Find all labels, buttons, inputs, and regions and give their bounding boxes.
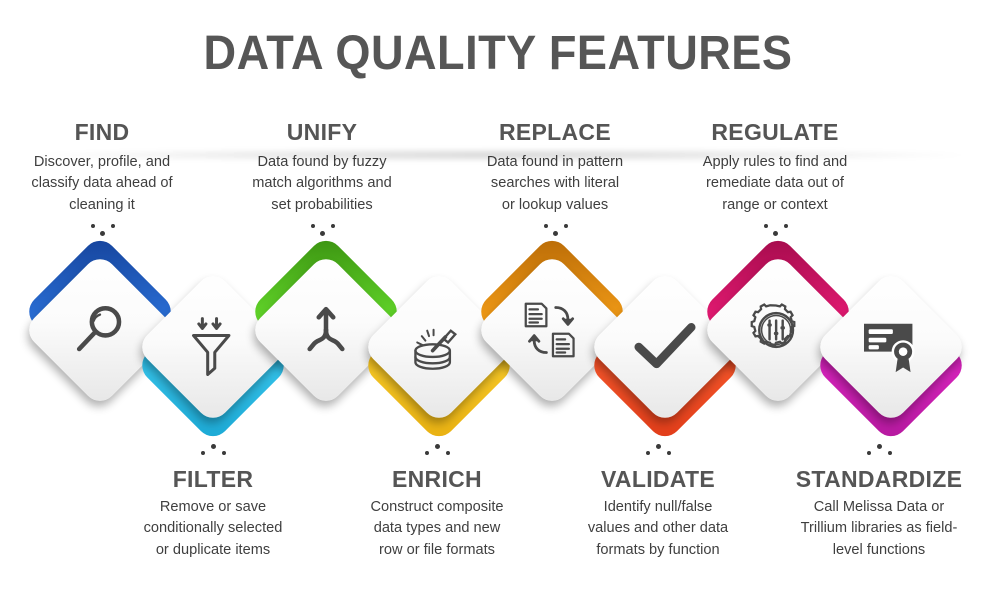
dots-connector-validate xyxy=(623,443,693,463)
feature-desc-validate: Identify null/false values and other dat… xyxy=(551,497,765,560)
feature-text-standardize: STANDARDIZE Call Melissa Data or Trilliu… xyxy=(761,443,996,561)
feature-text-validate: VALIDATE Identify null/false values and … xyxy=(551,443,765,561)
node-standardize[interactable] xyxy=(829,285,953,409)
feature-desc-unify: Data found by fuzzy match algorithms and… xyxy=(215,152,429,215)
feature-label-validate: VALIDATE xyxy=(551,467,765,492)
feature-desc-regulate: Apply rules to find and remediate data o… xyxy=(668,152,882,215)
dots-connector-standardize xyxy=(844,443,914,463)
feature-text-replace: REPLACE Data found in pattern searches w… xyxy=(448,120,662,242)
certificate-icon xyxy=(829,285,953,409)
feature-desc-filter: Remove or save conditionally selected or… xyxy=(106,497,320,560)
feature-text-find: FIND Discover, profile, and classify dat… xyxy=(0,120,209,242)
dots-connector-regulate xyxy=(740,222,810,242)
feature-label-find: FIND xyxy=(0,120,209,145)
infographic-root: DATA QUALITY FEATURES FIND Discover, pro… xyxy=(0,0,996,597)
dots-connector-find xyxy=(67,222,137,242)
feature-text-unify: UNIFY Data found by fuzzy match algorith… xyxy=(215,120,429,242)
feature-label-standardize: STANDARDIZE xyxy=(761,467,996,492)
feature-label-replace: REPLACE xyxy=(448,120,662,145)
page-title: DATA QUALITY FEATURES xyxy=(30,26,966,81)
dots-connector-unify xyxy=(287,222,357,242)
feature-desc-replace: Data found in pattern searches with lite… xyxy=(448,152,662,215)
feature-text-filter: FILTER Remove or save conditionally sele… xyxy=(106,443,320,561)
feature-text-enrich: ENRICH Construct composite data types an… xyxy=(330,443,544,561)
feature-label-enrich: ENRICH xyxy=(330,467,544,492)
feature-desc-standardize: Call Melissa Data or Trillium libraries … xyxy=(761,497,996,560)
feature-label-filter: FILTER xyxy=(106,467,320,492)
feature-text-regulate: REGULATE Apply rules to find and remedia… xyxy=(668,120,882,242)
feature-desc-enrich: Construct composite data types and new r… xyxy=(330,497,544,560)
dots-connector-filter xyxy=(178,443,248,463)
feature-label-unify: UNIFY xyxy=(215,120,429,145)
feature-desc-find: Discover, profile, and classify data ahe… xyxy=(0,152,209,215)
dots-connector-replace xyxy=(520,222,590,242)
feature-label-regulate: REGULATE xyxy=(668,120,882,145)
dots-connector-enrich xyxy=(402,443,472,463)
